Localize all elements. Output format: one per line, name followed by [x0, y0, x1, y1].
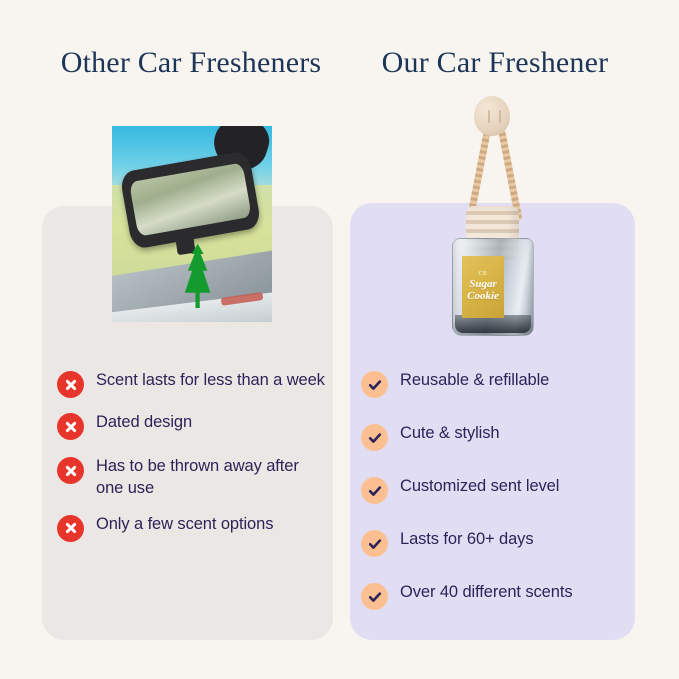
list-item-label: Only a few scent options — [96, 514, 273, 536]
page-title-our-car-freshener: Our Car Freshener — [345, 44, 645, 82]
cons-list: Scent lasts for less than a week Dated d… — [57, 370, 329, 558]
mirror-glass — [129, 163, 252, 237]
check-icon — [361, 424, 388, 451]
brand-logo-mark: CE — [479, 271, 488, 277]
cross-icon — [57, 371, 84, 398]
list-item-label: Over 40 different scents — [400, 582, 572, 604]
list-item: Customized sent level — [361, 476, 633, 504]
wooden-ball-notch — [488, 110, 501, 123]
list-item-label: Dated design — [96, 412, 192, 434]
scent-name-line2: Cookie — [467, 291, 499, 303]
list-item-label: Lasts for 60+ days — [400, 529, 534, 551]
product-label: CE Sugar Cookie — [462, 256, 504, 318]
check-icon — [361, 371, 388, 398]
list-item-label: Has to be thrown away after one use — [96, 456, 329, 500]
check-icon — [361, 477, 388, 504]
cross-icon — [57, 413, 84, 440]
check-icon — [361, 583, 388, 610]
list-item: Cute & stylish — [361, 423, 633, 451]
list-item: Only a few scent options — [57, 514, 329, 542]
list-item: Over 40 different scents — [361, 582, 633, 610]
list-item-label: Scent lasts for less than a week — [96, 370, 325, 392]
list-item-label: Cute & stylish — [400, 423, 499, 445]
cross-icon — [57, 515, 84, 542]
pros-list: Reusable & refillable Cute & stylish Cus… — [361, 370, 633, 635]
list-item: Reusable & refillable — [361, 370, 633, 398]
page-title-other-car-fresheners: Other Car Fresheners — [56, 44, 326, 82]
list-item: Lasts for 60+ days — [361, 529, 633, 557]
product-bottle-photo: CE Sugar Cookie — [440, 96, 544, 340]
cross-icon — [57, 457, 84, 484]
list-item: Scent lasts for less than a week — [57, 370, 329, 398]
list-item: Dated design — [57, 412, 329, 440]
car-mirror-photo — [112, 126, 272, 322]
check-icon — [361, 530, 388, 557]
list-item-label: Reusable & refillable — [400, 370, 549, 392]
list-item: Has to be thrown away after one use — [57, 456, 329, 500]
mirror-stem — [174, 229, 195, 255]
list-item-label: Customized sent level — [400, 476, 559, 498]
